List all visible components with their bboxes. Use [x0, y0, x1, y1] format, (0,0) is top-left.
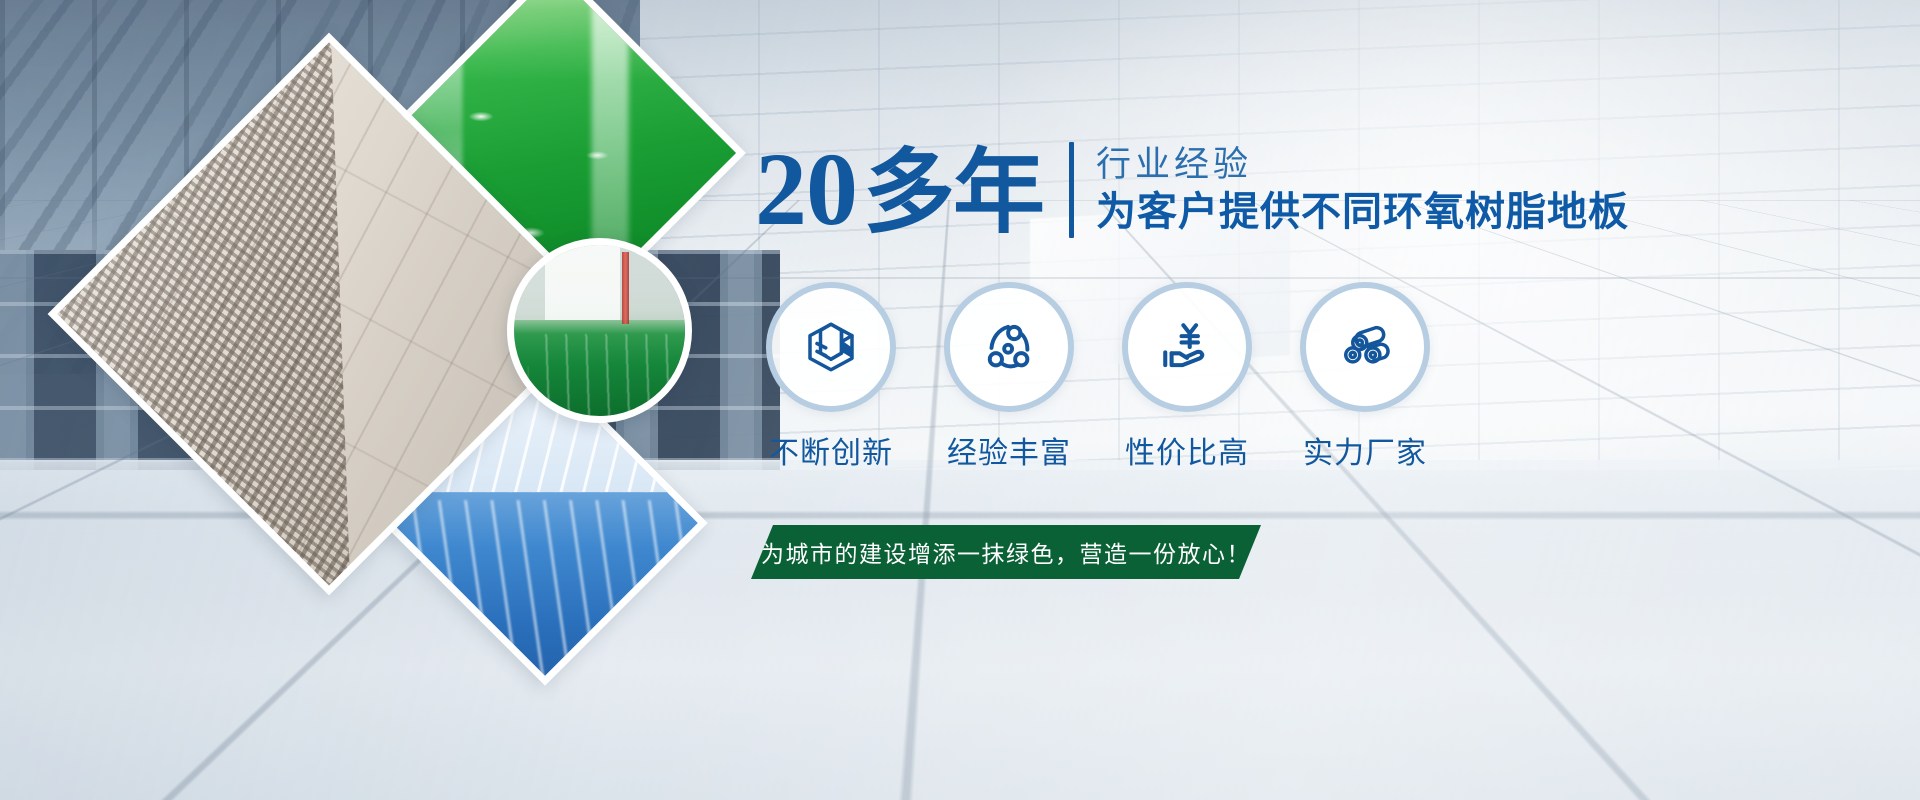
feature-icon-circle: [944, 282, 1074, 412]
feature-list: 不断创新 经: [755, 282, 1455, 472]
headline-subtext: 行业经验 为客户提供不同环氧树脂地板: [1096, 143, 1629, 237]
feature-icon-circle: [766, 282, 896, 412]
headline-subtitle-line-1: 行业经验: [1096, 143, 1629, 188]
hand-yuan-icon: [1158, 318, 1216, 376]
banner-content: 20 多年 行业经验 为客户提供不同环氧树脂地板: [745, 0, 1920, 800]
feature-item-innovation[interactable]: 不断创新: [755, 282, 907, 472]
photo-collage: [0, 0, 760, 800]
network-nodes-icon: [981, 319, 1037, 375]
feature-item-value[interactable]: 性价比高: [1111, 282, 1263, 472]
years-number: 20: [755, 140, 857, 240]
feature-icon-circle: [1122, 282, 1252, 412]
years-experience: 20 多年: [755, 140, 1043, 240]
feature-label: 实力厂家: [1303, 428, 1427, 472]
feature-label: 不断创新: [769, 428, 893, 472]
feature-item-experience[interactable]: 经验丰富: [933, 282, 1085, 472]
stacked-rolls-icon: [1337, 319, 1393, 375]
headline: 20 多年 行业经验 为客户提供不同环氧树脂地板: [755, 140, 1629, 240]
years-unit-label: 多年: [863, 149, 1043, 237]
cube-box-icon: [803, 319, 859, 375]
feature-item-manufacturer[interactable]: 实力厂家: [1289, 282, 1441, 472]
tagline-ribbon: 为城市的建设增添一抹绿色，营造一份放心！: [751, 525, 1261, 579]
headline-subtitle-line-2: 为客户提供不同环氧树脂地板: [1096, 188, 1629, 238]
feature-label: 性价比高: [1125, 428, 1249, 472]
tagline-text: 为城市的建设增添一抹绿色，营造一份放心！: [761, 535, 1251, 569]
feature-label: 经验丰富: [947, 428, 1071, 472]
feature-icon-circle: [1300, 282, 1430, 412]
headline-divider: [1069, 142, 1074, 238]
green-epoxy-corridor-photo: [507, 238, 692, 423]
promo-banner: 20 多年 行业经验 为客户提供不同环氧树脂地板: [0, 0, 1920, 800]
